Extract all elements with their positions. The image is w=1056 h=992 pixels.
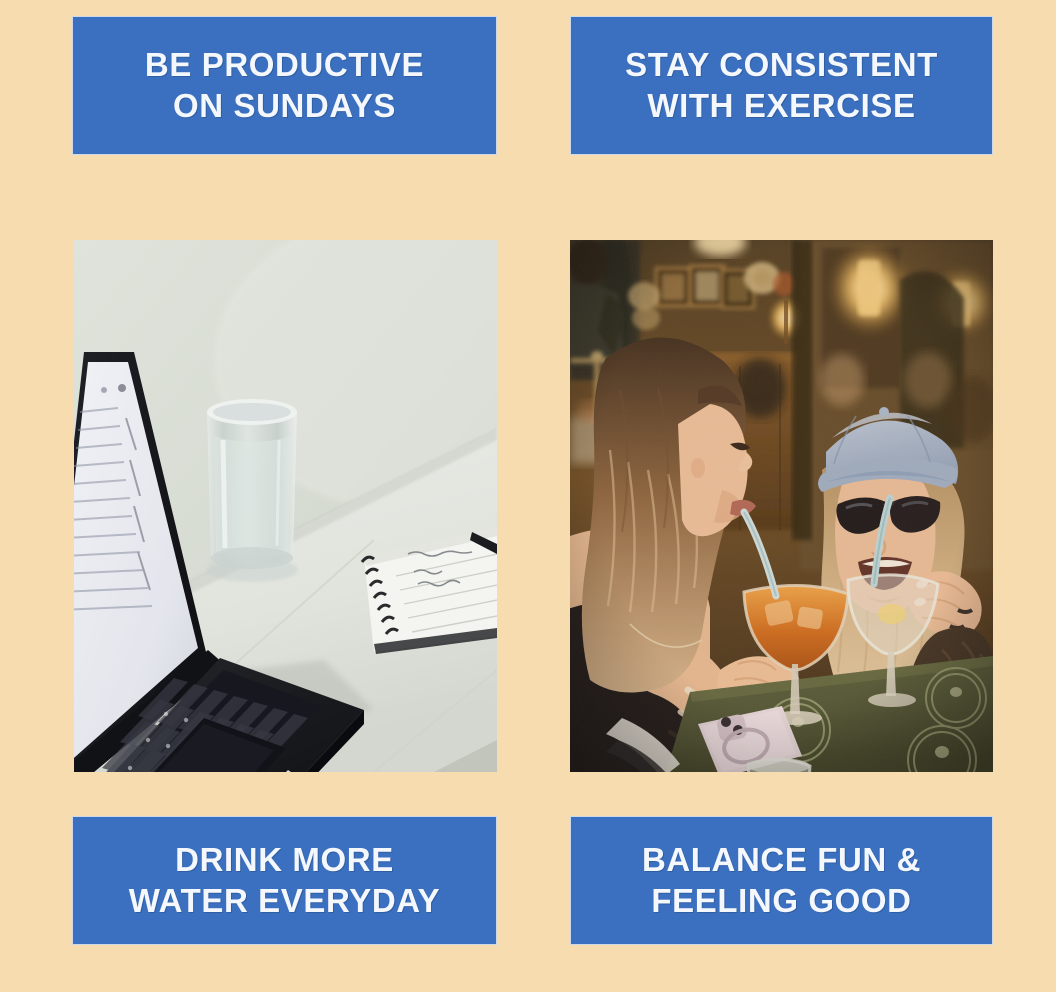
caption-panel-bottom-left: DRINK MORE WATER EVERYDAY: [72, 816, 497, 945]
caption-panel-bottom-right: BALANCE FUN & FEELING GOOD: [570, 816, 993, 945]
water-glass-shape: [206, 399, 298, 582]
photo-laptop-desk-graphic: [74, 240, 497, 772]
caption-text-balance-fun: BALANCE FUN & FEELING GOOD: [632, 840, 931, 921]
caption-text-be-productive: BE PRODUCTIVE ON SUNDAYS: [135, 45, 434, 126]
photo-laptop-desk: [74, 240, 497, 772]
caption-text-drink-more-water: DRINK MORE WATER EVERYDAY: [119, 840, 451, 921]
photo-friends-drinks: [570, 240, 993, 772]
caption-text-stay-consistent: STAY CONSISTENT WITH EXERCISE: [615, 45, 948, 126]
photo-friends-drinks-graphic: [570, 240, 993, 772]
poster-board: BE PRODUCTIVE ON SUNDAYS STAY CONSISTENT…: [0, 0, 1056, 992]
caption-panel-top-right: STAY CONSISTENT WITH EXERCISE: [570, 16, 993, 155]
caption-panel-top-left: BE PRODUCTIVE ON SUNDAYS: [72, 16, 497, 155]
